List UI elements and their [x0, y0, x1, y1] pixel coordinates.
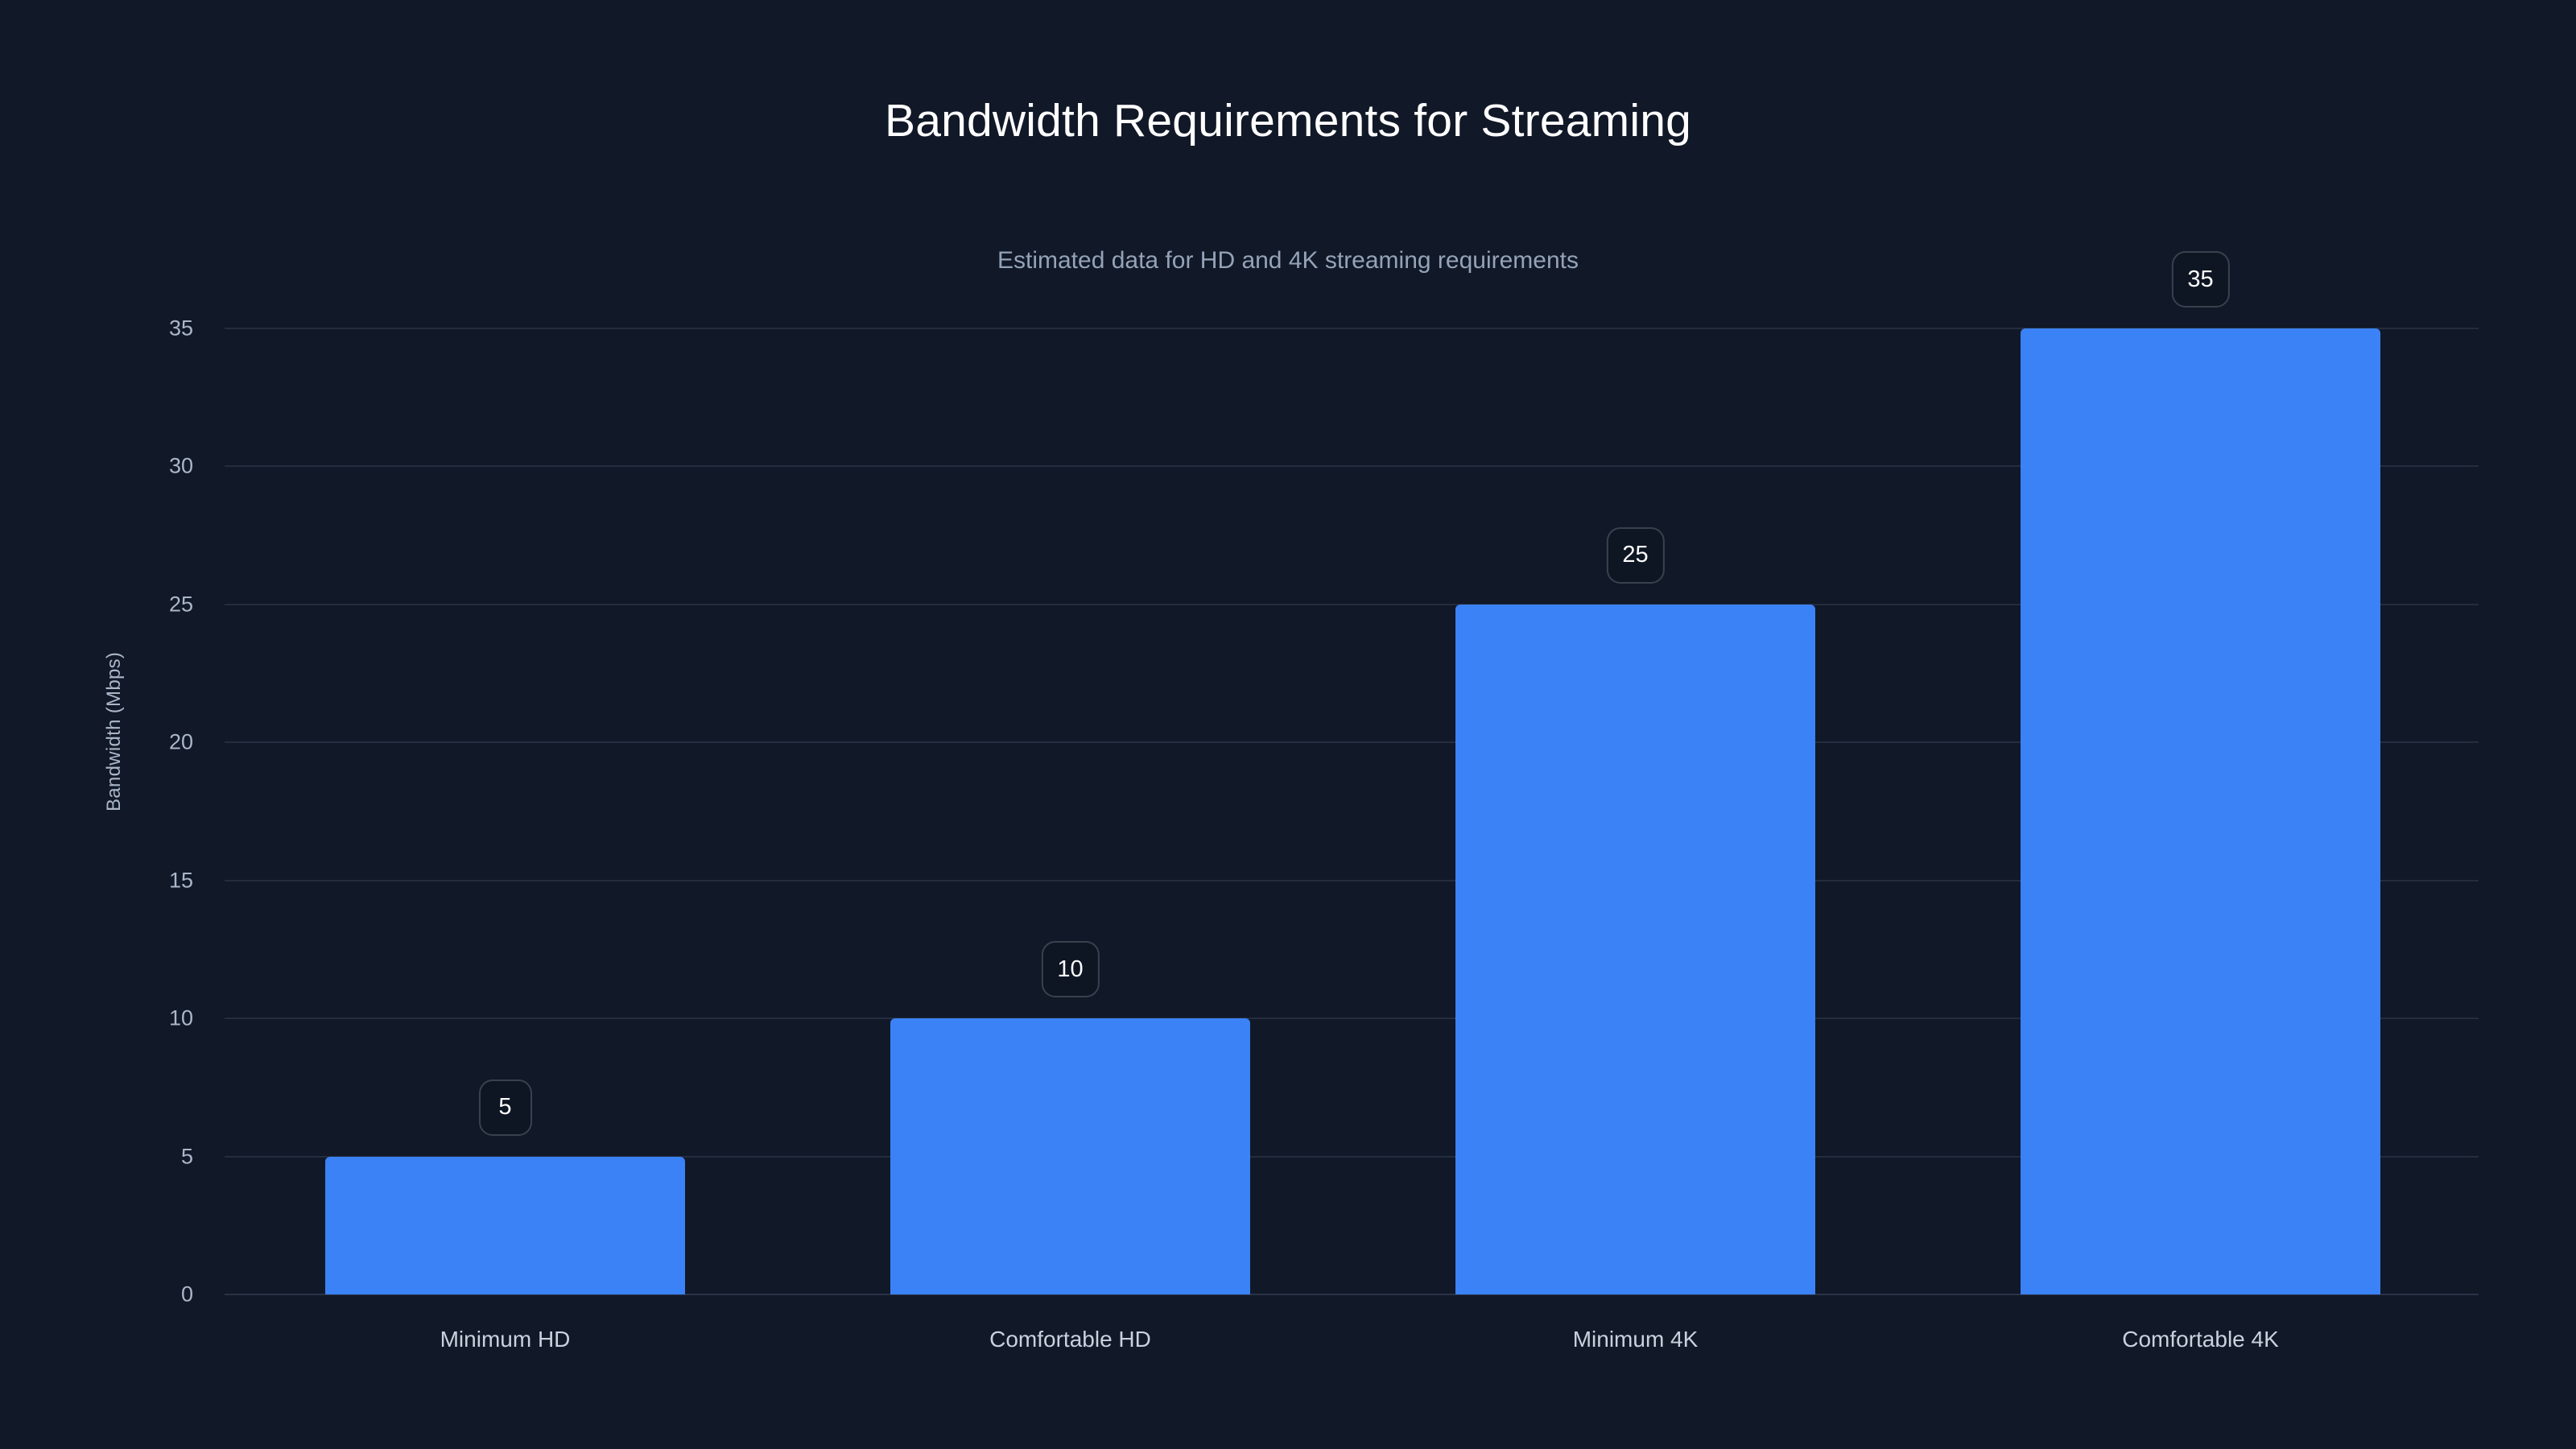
y-tick-label: 0: [97, 1282, 193, 1307]
y-axis-title: Bandwidth (Mbps): [103, 652, 126, 811]
y-tick-label: 25: [97, 592, 193, 617]
y-tick-label: 5: [97, 1144, 193, 1169]
bar[interactable]: [1455, 605, 1815, 1294]
y-tick-label: 30: [97, 454, 193, 479]
bar-chart-canvas: Bandwidth Requirements for Streaming Est…: [0, 0, 2576, 1449]
data-label-badge: 5: [479, 1080, 532, 1136]
bar[interactable]: [2021, 328, 2380, 1294]
y-tick-label: 10: [97, 1006, 193, 1031]
x-tick-label: Minimum 4K: [1573, 1327, 1699, 1352]
x-tick-label: Comfortable HD: [989, 1327, 1151, 1352]
data-label-badge: 25: [1606, 527, 1664, 584]
data-label-badge: 35: [2171, 251, 2229, 308]
plot-area: [225, 328, 2479, 1294]
bar[interactable]: [890, 1018, 1250, 1294]
data-label-badge: 10: [1041, 941, 1099, 997]
y-tick-label: 15: [97, 868, 193, 893]
x-tick-label: Minimum HD: [440, 1327, 571, 1352]
chart-title: Bandwidth Requirements for Streaming: [0, 95, 2576, 148]
bar[interactable]: [325, 1157, 685, 1294]
x-tick-label: Comfortable 4K: [2122, 1327, 2279, 1352]
y-tick-label: 35: [97, 316, 193, 341]
